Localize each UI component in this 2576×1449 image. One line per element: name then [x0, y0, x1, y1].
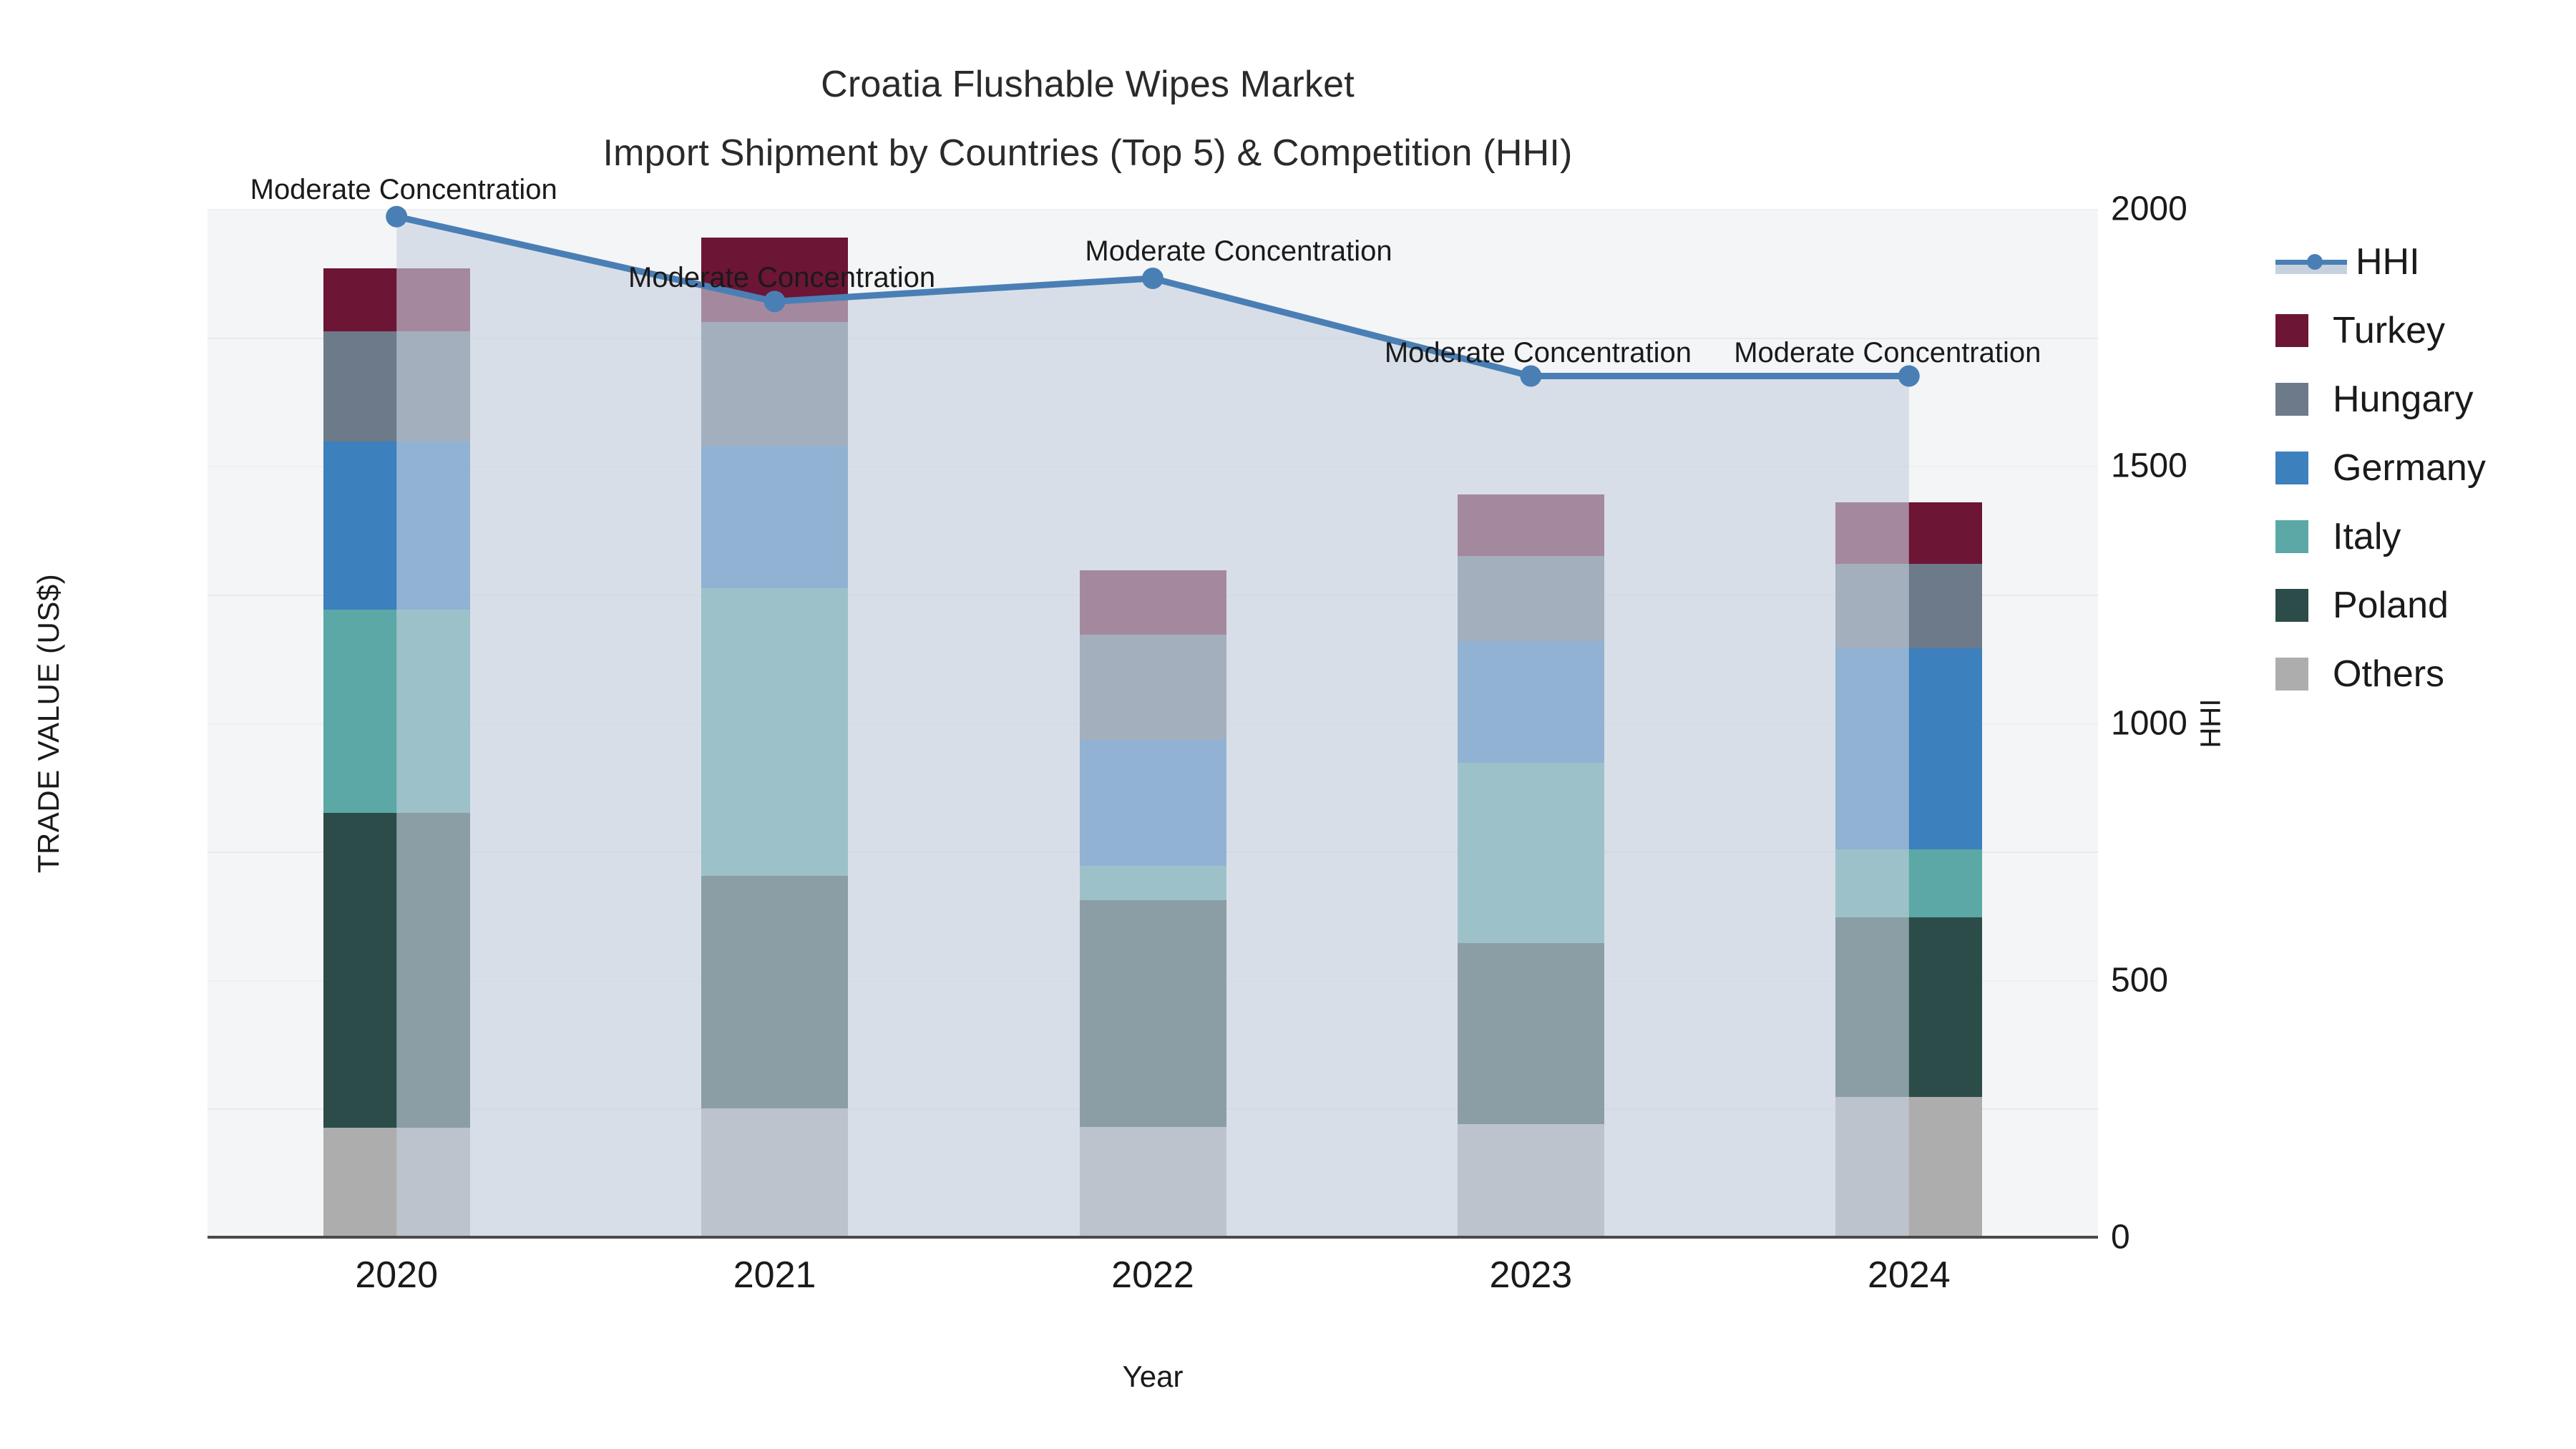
y-axis-right-tick-label: 2000	[2111, 190, 2187, 229]
legend-line-icon	[2275, 245, 2347, 278]
hhi-annotation: Moderate Concentration	[1085, 235, 1392, 268]
legend-item-label: HHI	[2356, 240, 2420, 283]
legend-item-italy[interactable]: Italy	[2275, 502, 2576, 571]
legend-swatch-icon	[2275, 658, 2308, 691]
legend-swatch-icon	[2275, 383, 2308, 416]
legend-swatch-icon	[2275, 520, 2308, 553]
chart-legend: HHITurkeyHungaryGermanyItalyPolandOthers	[2275, 228, 2576, 708]
hhi-annotation: Moderate Concentration	[1734, 337, 2041, 369]
hhi-annotation: Moderate Concentration	[250, 174, 557, 206]
legend-item-label: Germany	[2333, 447, 2486, 489]
legend-swatch-icon	[2275, 452, 2308, 484]
chart-root: Croatia Flushable Wipes Market Import Sh…	[0, 0, 2576, 1449]
y-axis-right-title: HHI	[2195, 473, 2228, 974]
hhi-data-point[interactable]	[386, 206, 407, 228]
x-axis-title: Year	[208, 1360, 2098, 1394]
legend-swatch-icon	[2275, 589, 2308, 622]
legend-item-label: Turkey	[2333, 309, 2445, 352]
chart-title-block: Croatia Flushable Wipes Market Import Sh…	[0, 50, 2175, 187]
legend-item-hhi[interactable]: HHI	[2275, 228, 2576, 296]
x-axis-tick-label: 2022	[1111, 1254, 1194, 1297]
legend-item-turkey[interactable]: Turkey	[2275, 296, 2576, 365]
y-axis-right-title-wrap: HHI	[2190, 209, 2233, 1237]
legend-item-germany[interactable]: Germany	[2275, 434, 2576, 502]
y-axis-left-title-wrap: TRADE VALUE (US$)	[13, 209, 56, 1237]
y-axis-right-tick-label: 0	[2111, 1218, 2130, 1257]
legend-item-label: Poland	[2333, 584, 2449, 627]
y-axis-right-tick-label: 1500	[2111, 447, 2187, 486]
y-axis-right-tick-label: 500	[2111, 960, 2168, 1000]
hhi-data-point[interactable]	[1142, 268, 1163, 289]
legend-item-hungary[interactable]: Hungary	[2275, 365, 2576, 434]
x-axis-tick-label: 2023	[1490, 1254, 1573, 1297]
hhi-annotation: Moderate Concentration	[628, 262, 935, 294]
hhi-area-fill	[396, 217, 1909, 1237]
legend-item-label: Italy	[2333, 515, 2401, 558]
y-axis-left-title: TRADE VALUE (US$)	[31, 473, 66, 974]
page-title: Croatia Flushable Wipes Market	[0, 50, 2175, 119]
legend-item-label: Hungary	[2333, 378, 2474, 421]
x-axis-tick-label: 2020	[355, 1254, 438, 1297]
x-axis-line	[208, 1236, 2098, 1239]
legend-item-poland[interactable]: Poland	[2275, 571, 2576, 640]
legend-item-others[interactable]: Others	[2275, 640, 2576, 708]
x-axis-tick-label: 2021	[733, 1254, 816, 1297]
hhi-annotation: Moderate Concentration	[1385, 337, 1692, 369]
legend-item-label: Others	[2333, 653, 2444, 696]
legend-swatch-icon	[2275, 314, 2308, 347]
x-axis-tick-label: 2024	[1868, 1254, 1951, 1297]
y-axis-right-tick-label: 1000	[2111, 703, 2187, 743]
